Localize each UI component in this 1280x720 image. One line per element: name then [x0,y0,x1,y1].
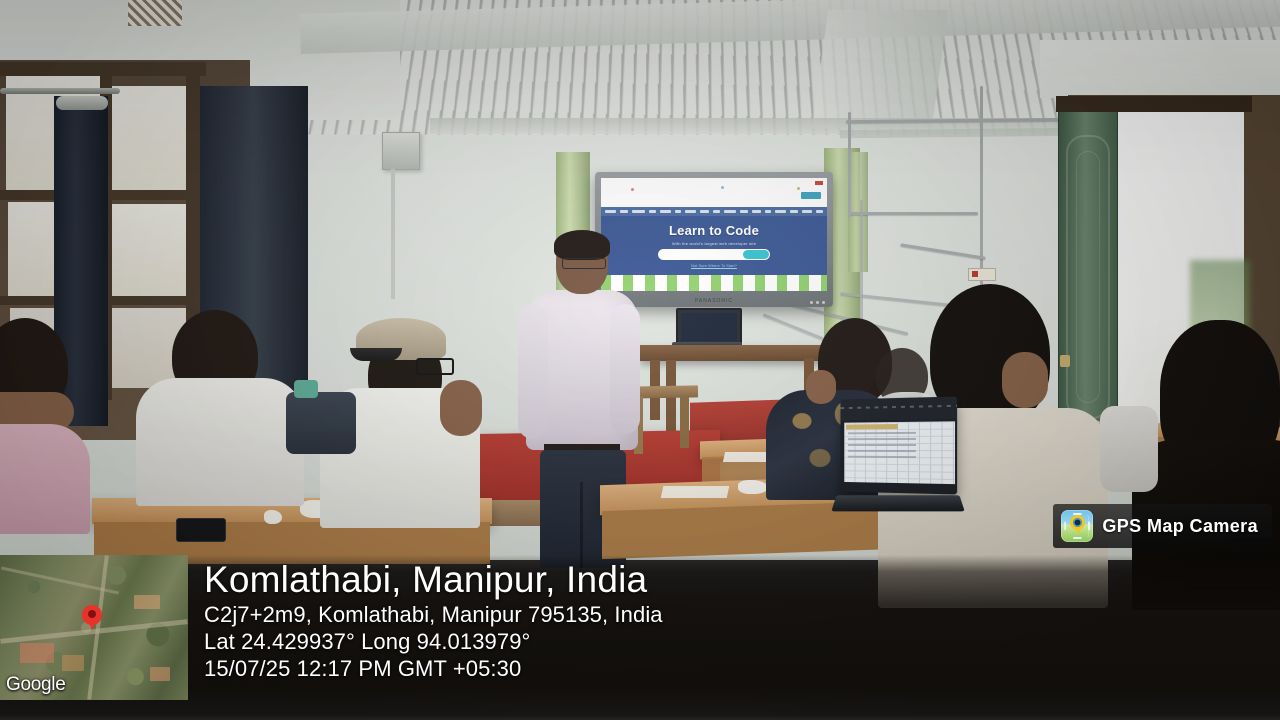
mobile-phone-on-desk[interactable] [176,518,226,542]
backpack-on-chair [286,392,356,454]
wall-conduit-vertical [980,86,983,296]
ceiling-corner [812,10,949,128]
side-bench-leg-2 [680,396,689,448]
wall-above-door [1040,40,1280,98]
map-building-1 [20,643,54,663]
student-laptop-screen [840,396,957,494]
hero-subtitle: With the world's largest web developer s… [672,241,756,246]
paper-sheet-1 [661,486,730,498]
presenter-laptop-screen [676,308,742,346]
power-socket [968,268,996,281]
google-watermark: Google [6,674,65,696]
presenter-laptop [672,308,742,348]
tissue-3 [738,480,768,494]
gps-text-block: Komlathabi, Manipur, India C2j7+2m9, Kom… [188,555,1280,682]
site-search-box[interactable] [658,249,770,260]
hero-title: Learn to Code [669,223,759,238]
site-search-button[interactable] [743,250,769,259]
student-laptop [838,398,958,518]
cable-run-4 [860,200,863,320]
browser-chrome [601,178,827,207]
wall-speaker [382,132,420,170]
tv-indicator-lights [810,301,825,304]
presenter-arm-left [518,304,548,439]
site-navigation-bar[interactable] [601,207,827,216]
map-thumbnail[interactable]: Google [0,555,188,700]
door-lintel [1056,96,1252,112]
window-frame-top [0,62,206,76]
tv-brand-label: PANASONIC [695,298,733,304]
gps-map-camera-icon [1061,510,1093,542]
location-coordinates: Lat 24.429937° Long 94.013979° [204,628,1280,655]
door-panel-moulding [1066,135,1110,419]
spreadsheet-cells [848,432,916,458]
wall-conduit-lower [848,212,978,215]
bench-leg-left-2 [666,360,676,438]
student-left-3-glasses [416,358,454,375]
student-left-1-torso [0,424,90,534]
map-building-2 [62,655,84,671]
spreadsheet-ribbon [840,396,957,420]
student-right-3-ear-side [1002,352,1048,408]
gps-map-camera-label: GPS Map Camera [1102,516,1258,537]
student-right-1-hand [806,370,836,404]
presenter-hair [554,230,610,260]
student-left-2-shirt [136,378,304,506]
presenter-glasses [562,258,606,269]
map-building-4 [150,667,170,681]
door-handle [1060,355,1070,367]
capture-timestamp: 15/07/25 12:17 PM GMT +05:30 [204,655,1280,682]
browser-close-icon[interactable] [815,181,823,185]
student-right-4-shoulder [1100,406,1158,492]
ventilation-grille [128,0,182,26]
browser-action-button[interactable] [801,192,821,199]
student-left-3-cap-brim [350,348,402,361]
location-address: C2j7+2m9, Komlathabi, Manipur 795135, In… [204,601,1280,628]
gps-info-overlay: Google Komlathabi, Manipur, India C2j7+2… [0,555,1280,720]
front-bench [640,345,830,361]
presenter-arm-right [610,304,640,434]
spreadsheet-header-row [846,424,898,429]
map-location-pin [82,605,102,625]
student-laptop-keyboard [831,495,964,511]
student-left-3-arm [440,380,482,436]
map-building-3 [134,595,160,609]
curtain-rod-ring [56,96,108,110]
tissue-1 [264,510,282,524]
water-bottle [294,380,318,398]
wall-conduit-branch [848,112,851,218]
gps-map-camera-watermark: GPS Map Camera [1053,504,1272,548]
window-pane-mid-right [112,204,188,296]
hero-cta-link[interactable]: Not Sure Where To Start? [691,263,737,268]
curtain-rod [0,88,120,94]
location-title: Komlathabi, Manipur, India [204,559,1280,601]
photo-canvas: Learn to Code With the world's largest w… [0,0,1280,720]
window-pane-upper-right [112,86,190,198]
